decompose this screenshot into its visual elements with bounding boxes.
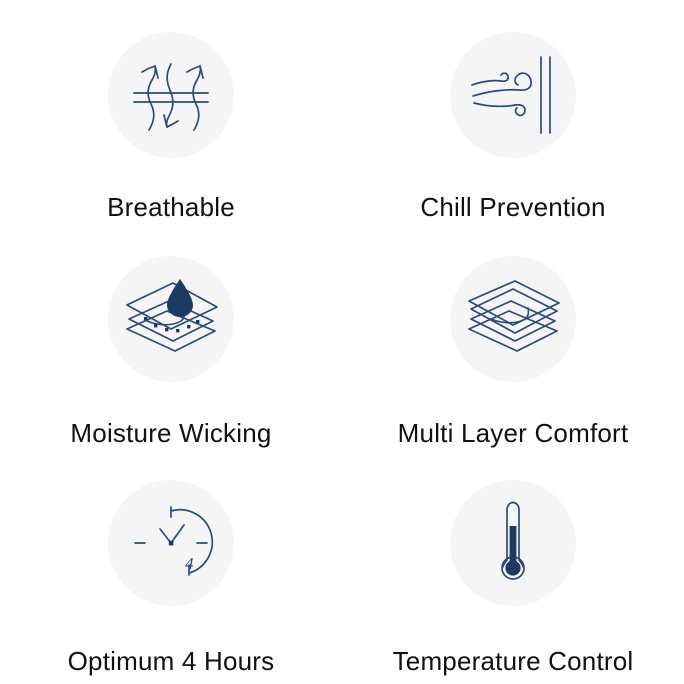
feature-item-moisture-wicking[interactable]: Moisture Wicking	[0, 228, 342, 456]
thermometer-icon	[485, 498, 541, 588]
feature-item-optimum-4-hours[interactable]: 4 Optimum 4 Hours	[0, 456, 342, 684]
icon-circle-temperature-control	[450, 480, 576, 606]
clock-badge-number: 4	[185, 554, 194, 573]
wind-block-icon	[467, 49, 559, 141]
water-droplet-layers-icon	[123, 277, 219, 361]
icon-circle-moisture-wicking	[108, 256, 234, 382]
feature-item-breathable[interactable]: Breathable	[0, 0, 342, 228]
clock-icon: 4	[127, 499, 215, 587]
feature-label-temperature-control: Temperature Control	[393, 648, 634, 674]
feature-item-multi-layer-comfort[interactable]: Multi Layer Comfort	[342, 228, 684, 456]
icon-circle-optimum-4-hours: 4	[108, 480, 234, 606]
feature-label-chill-prevention: Chill Prevention	[420, 194, 605, 220]
feature-grid: Breathable	[0, 0, 684, 684]
feature-item-temperature-control[interactable]: Temperature Control	[342, 456, 684, 684]
icon-circle-chill-prevention	[450, 32, 576, 158]
feature-label-breathable: Breathable	[107, 194, 235, 220]
feature-label-moisture-wicking: Moisture Wicking	[70, 420, 271, 446]
stacked-layers-icon	[465, 277, 561, 361]
feature-label-optimum-4-hours: Optimum 4 Hours	[68, 648, 275, 674]
feature-item-chill-prevention[interactable]: Chill Prevention	[342, 0, 684, 228]
breathable-airflow-icon	[126, 50, 216, 140]
icon-circle-multi-layer-comfort	[450, 256, 576, 382]
icon-circle-breathable	[108, 32, 234, 158]
feature-label-multi-layer-comfort: Multi Layer Comfort	[398, 420, 629, 446]
